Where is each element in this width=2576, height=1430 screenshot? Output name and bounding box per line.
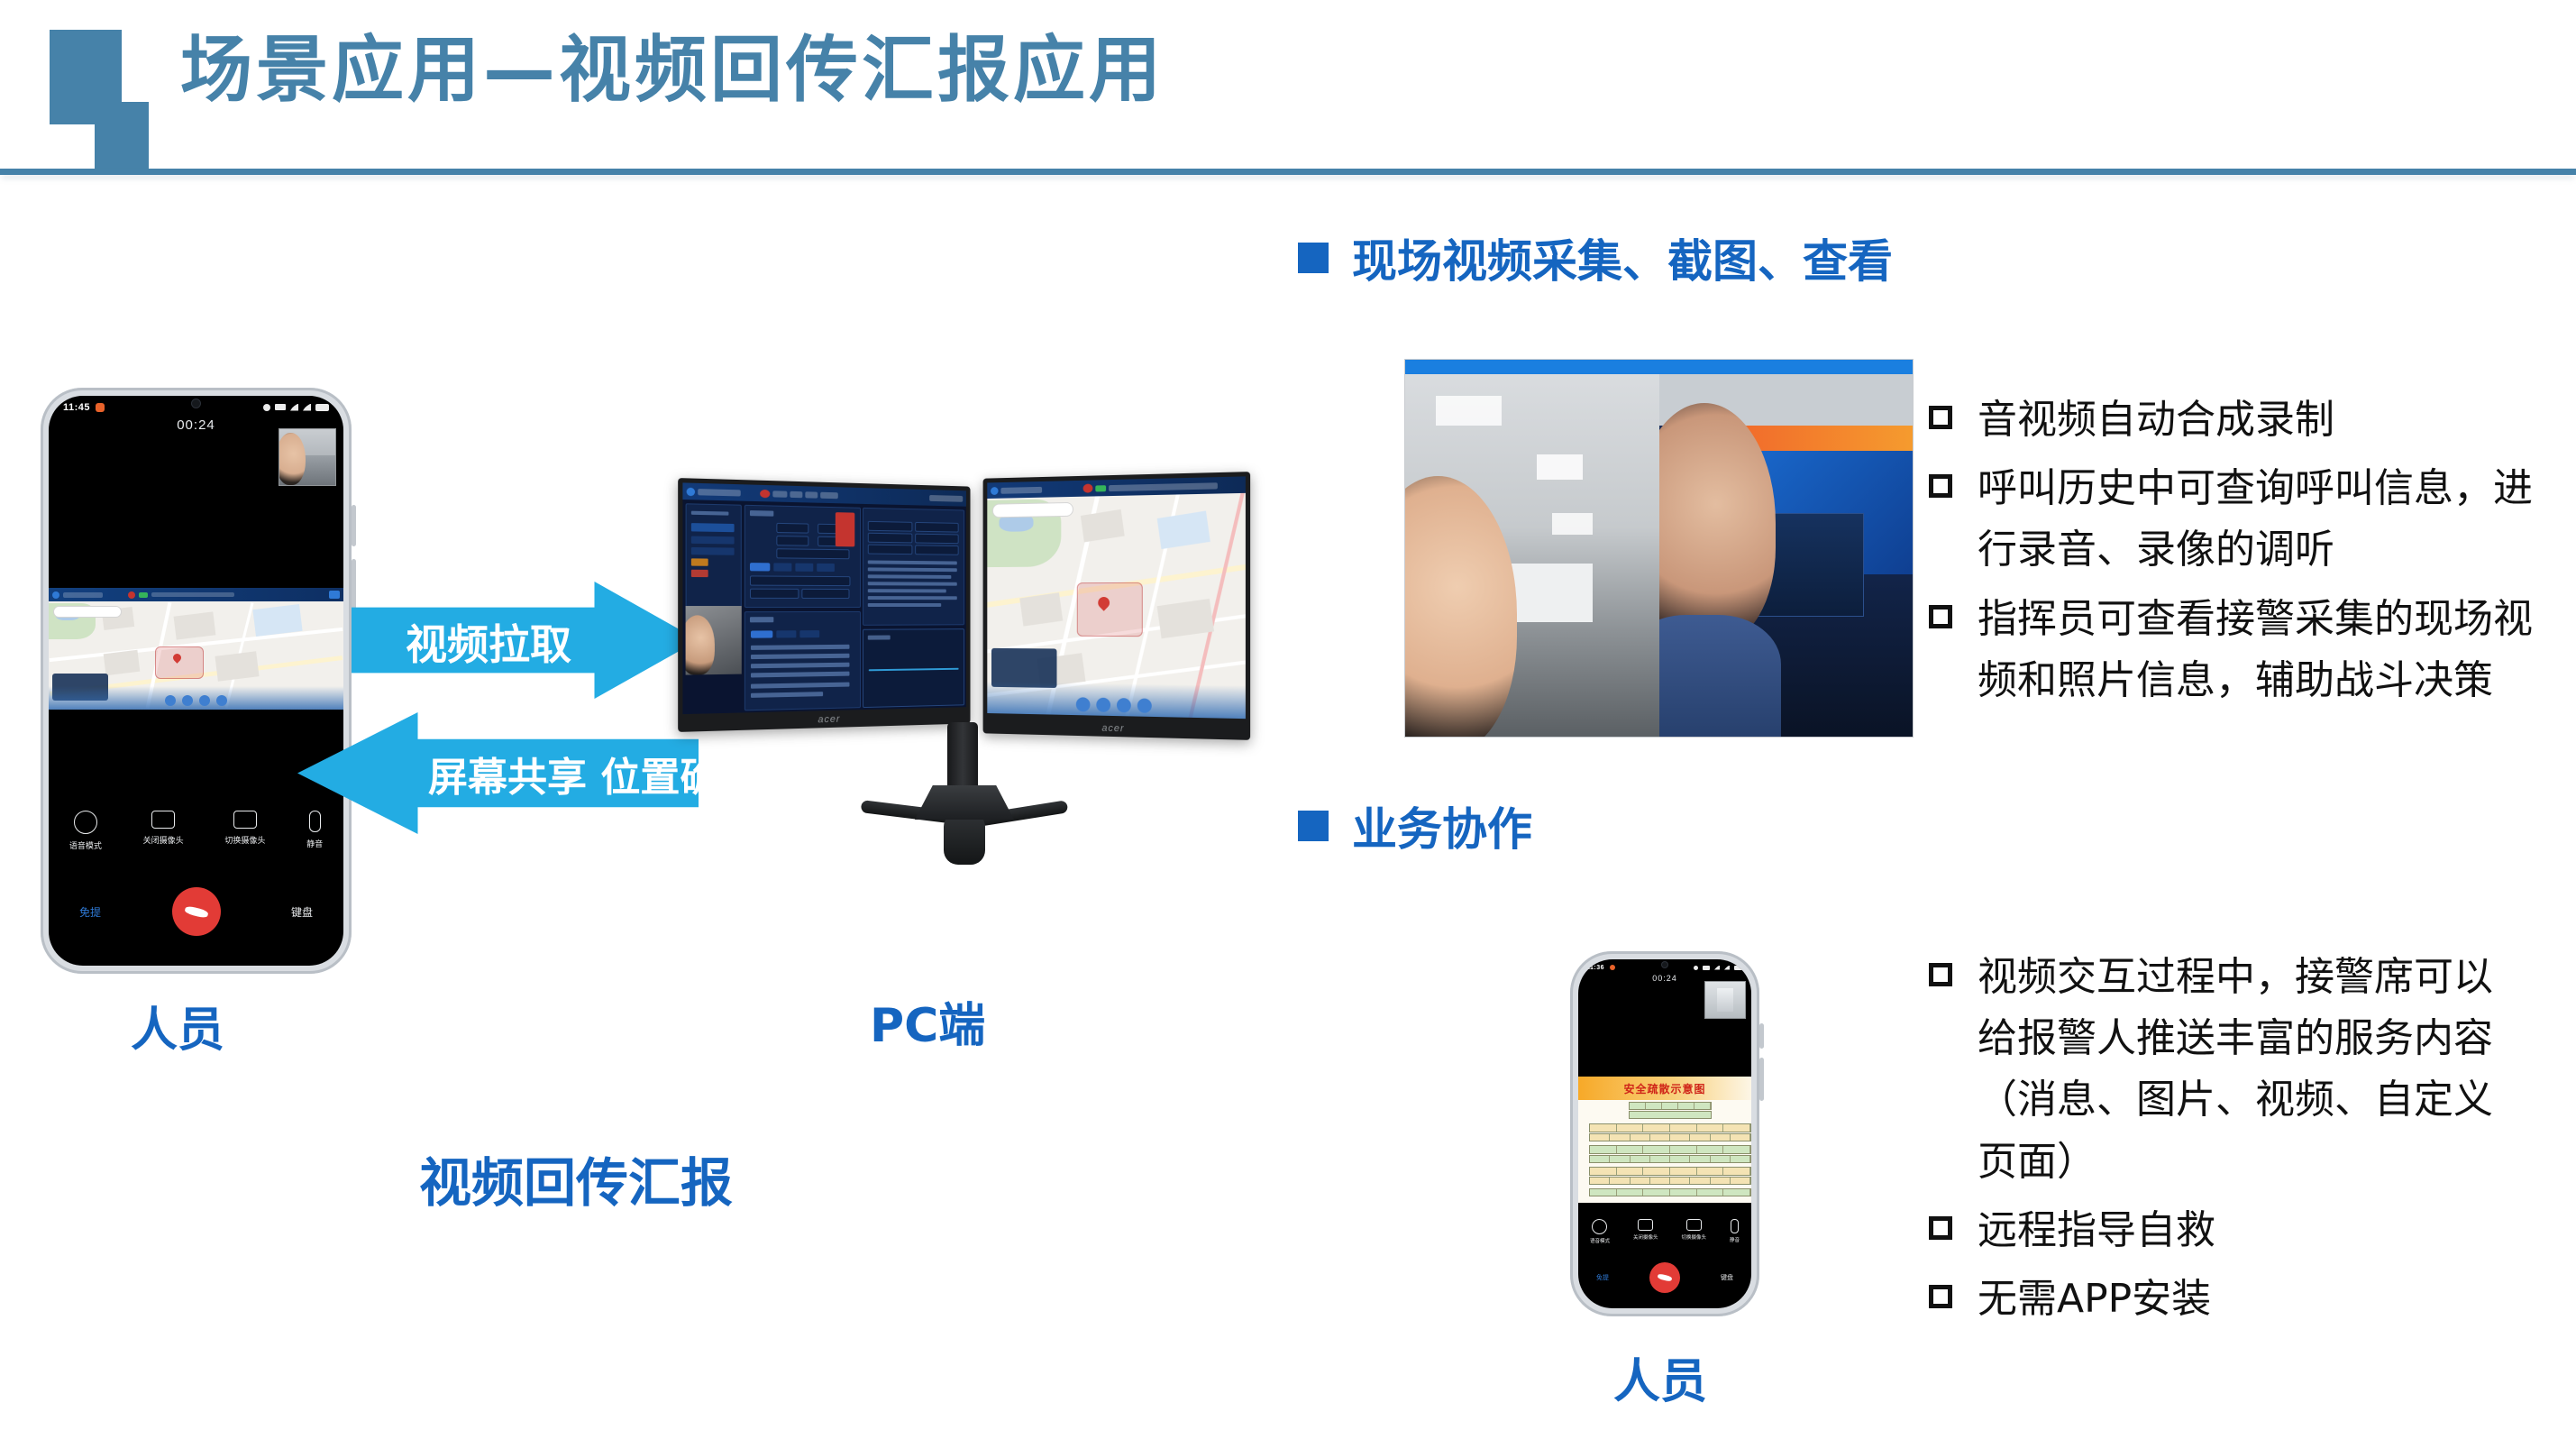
hangup-icon xyxy=(184,904,208,918)
section-header-business-collaboration: 业务协作 xyxy=(1298,793,1532,858)
sim-icon xyxy=(1703,966,1710,970)
emergency-button[interactable] xyxy=(836,512,854,546)
person-face xyxy=(1404,476,1517,738)
control-label: 关闭摄像头 xyxy=(143,834,184,846)
panel-row xyxy=(691,570,708,577)
console-waveform-panel xyxy=(863,628,964,708)
section-bullet-icon xyxy=(1298,243,1329,273)
settings-icon xyxy=(263,404,270,411)
photo-left-pane xyxy=(1405,374,1659,738)
ticker-text xyxy=(1109,482,1218,491)
list-item: 无需APP安装 xyxy=(1929,1269,2506,1330)
settings-icon xyxy=(1694,966,1698,970)
hangup-button[interactable] xyxy=(1649,1262,1680,1293)
hollow-square-bullet-icon xyxy=(1929,1285,1952,1308)
panel-row xyxy=(691,547,735,555)
floor-row-4-sub xyxy=(1589,1133,1751,1141)
control-label: 静音 xyxy=(306,838,323,849)
hangup-button[interactable] xyxy=(172,887,221,936)
monitor-stand-base xyxy=(861,785,1068,868)
sim-icon xyxy=(275,404,286,410)
form-input[interactable] xyxy=(776,523,808,534)
shared-app-title xyxy=(63,592,103,598)
front-camera-icon xyxy=(1662,962,1667,967)
bullet-list-video-capture: 音视频自动合成录制 呼叫历史中可查询呼叫信息，进行录音、录像的调听 指挥员可查看… xyxy=(1929,390,2560,719)
section-header-video-capture: 现场视频采集、截图、查看 xyxy=(1298,225,1893,290)
control-mute[interactable]: 静音 xyxy=(306,811,323,849)
toolbar-chip[interactable] xyxy=(790,490,802,497)
panel-title xyxy=(868,636,891,640)
map-incident-area xyxy=(155,646,204,679)
detail-text-line xyxy=(868,560,957,564)
section-bullet-icon xyxy=(1298,811,1329,841)
keypad-button[interactable]: 键盘 xyxy=(291,904,313,920)
status-icons xyxy=(1694,966,1743,970)
phone-mockup-right: 11:36 00:24 安全疏散示意图 xyxy=(1570,951,1759,1316)
map-action-dock[interactable] xyxy=(987,682,1246,719)
control-label: 语音模式 xyxy=(1590,1237,1610,1244)
caption-flow-title: 视频回传汇报 xyxy=(419,1141,733,1216)
control-camera-switch[interactable]: 切换摄像头 xyxy=(224,811,265,846)
video-call-photo xyxy=(1404,359,1914,738)
list-item: 视频交互过程中，接警席可以给报警人推送丰富的服务内容（消息、图片、视频、自定义页… xyxy=(1929,947,2506,1193)
list-item-text: 无需APP安装 xyxy=(1978,1269,2211,1330)
battery-icon xyxy=(1734,966,1743,970)
app-logo-icon xyxy=(52,591,59,599)
dual-monitor-mockup: acer xyxy=(681,455,1248,996)
phone-icon xyxy=(74,811,97,834)
phone-mockup-left: 11:45 00:24 xyxy=(41,388,352,974)
call-bottom-bar: 免提 键盘 xyxy=(49,887,343,936)
monitor-brand-logo: acer xyxy=(1101,723,1124,735)
page-header: 场景应用—视频回传汇报应用 xyxy=(0,0,2576,180)
shared-app-topbar xyxy=(49,588,343,601)
phone-screen: 11:45 00:24 xyxy=(49,396,343,966)
stand-plate xyxy=(915,785,1014,820)
control-camera-switch[interactable]: 切换摄像头 xyxy=(1681,1219,1706,1241)
evacuation-diagram[interactable]: 安全疏散示意图 xyxy=(1578,1077,1751,1203)
floor-row-1 xyxy=(1589,1188,1751,1196)
panel-row xyxy=(691,523,735,532)
monitor-right-screen xyxy=(987,476,1246,719)
map-action-dock[interactable] xyxy=(49,686,343,710)
console-app-title xyxy=(1000,486,1042,493)
building xyxy=(1507,564,1594,622)
form-title xyxy=(750,510,773,517)
caption-pc: PC端 xyxy=(870,987,985,1055)
mic-off-icon xyxy=(309,811,321,832)
console-checkbox-panel[interactable] xyxy=(744,611,861,710)
control-label: 切换摄像头 xyxy=(1681,1233,1706,1241)
floor-row-2-sub xyxy=(1589,1177,1751,1185)
self-view-pip[interactable] xyxy=(279,428,336,486)
checkbox-row[interactable] xyxy=(751,663,849,669)
checkbox-row[interactable] xyxy=(751,672,849,678)
map-block xyxy=(1157,599,1214,638)
map-block xyxy=(104,650,141,675)
monitor-right: acer xyxy=(983,472,1251,740)
console-form-panel[interactable] xyxy=(744,505,861,608)
list-item: 呼叫历史中可查询呼叫信息，进行录音、录像的调听 xyxy=(1929,458,2560,581)
hollow-square-bullet-icon xyxy=(1929,963,1952,986)
caption-person-right: 人员 xyxy=(1613,1343,1707,1411)
console-video-pip[interactable] xyxy=(686,606,742,675)
video-face xyxy=(686,616,716,675)
section-title: 业务协作 xyxy=(1352,793,1532,858)
signal-bars-icon xyxy=(290,404,298,411)
detail-text-line xyxy=(868,603,941,607)
control-label: 关闭摄像头 xyxy=(1633,1233,1658,1241)
checkbox-row[interactable] xyxy=(751,654,849,659)
alert-icon xyxy=(1083,484,1093,493)
panel-title xyxy=(750,617,773,622)
checkbox-row[interactable] xyxy=(751,692,823,698)
tab-button[interactable] xyxy=(817,564,835,572)
detail-field[interactable] xyxy=(915,522,958,533)
control-camera-off[interactable]: 关闭摄像头 xyxy=(1633,1219,1658,1241)
panel-row xyxy=(691,536,735,545)
filter-chip[interactable] xyxy=(751,630,772,637)
bullet-list-business-collaboration: 视频交互过程中，接警席可以给报警人推送丰富的服务内容（消息、图片、视频、自定义页… xyxy=(1929,947,2506,1337)
control-label: 语音模式 xyxy=(69,839,102,851)
logo-mark xyxy=(50,30,149,174)
map-block xyxy=(252,604,302,637)
phone-volume-button xyxy=(1759,1058,1764,1101)
map-block xyxy=(1019,592,1063,627)
arrow-screen-share: 屏幕共享 位置确认 xyxy=(297,712,699,834)
list-item: 指挥员可查看接警采集的现场视频和照片信息，辅助战斗决策 xyxy=(1929,589,2560,711)
list-item-text: 视频交互过程中，接警席可以给报警人推送丰富的服务内容（消息、图片、视频、自定义页… xyxy=(1978,947,2506,1193)
detail-field[interactable] xyxy=(868,545,913,555)
tab-button[interactable] xyxy=(795,564,813,572)
form-input[interactable] xyxy=(750,575,850,586)
waveform-line xyxy=(869,668,959,672)
map-block xyxy=(215,651,259,681)
panel-row xyxy=(691,511,729,516)
filter-chip[interactable] xyxy=(799,630,819,637)
filter-chip[interactable] xyxy=(776,630,796,637)
call-controls: 语音模式 关闭摄像头 切换摄像头 静音 xyxy=(1578,1219,1751,1244)
map-block xyxy=(1081,509,1125,543)
signal-bars-icon xyxy=(1714,966,1720,970)
map-search-input[interactable] xyxy=(992,502,1073,518)
console-detail-panel[interactable] xyxy=(863,508,964,626)
tab-button[interactable] xyxy=(750,563,770,571)
map-search-input[interactable] xyxy=(53,606,122,618)
floor-row-5-sub xyxy=(1629,1111,1712,1119)
dock-button-icon[interactable] xyxy=(1096,698,1110,712)
hollow-square-bullet-icon xyxy=(1929,406,1952,429)
floor-row-4 xyxy=(1589,1123,1751,1132)
arrow-video-pull: 视频拉取 xyxy=(352,582,699,699)
phone-screen: 11:36 00:24 安全疏散示意图 xyxy=(1578,959,1751,1308)
tab-button[interactable] xyxy=(773,563,791,571)
camera-switch-icon xyxy=(233,811,257,829)
map-block xyxy=(174,611,216,639)
front-camera-icon xyxy=(192,399,200,408)
dock-button-icon[interactable] xyxy=(199,695,210,706)
app-logo-icon xyxy=(687,487,695,496)
person-shoulder xyxy=(1659,615,1781,738)
photo-title-bar xyxy=(1405,360,1913,374)
toolbar-chip[interactable] xyxy=(805,491,818,498)
status-time: 11:36 xyxy=(1586,965,1604,971)
toolbar-chip[interactable] xyxy=(772,490,787,498)
form-input[interactable] xyxy=(776,536,808,546)
floor-row-3 xyxy=(1589,1145,1751,1154)
phone-side-button xyxy=(352,505,356,546)
detail-text-line xyxy=(868,582,957,585)
form-input[interactable] xyxy=(776,548,849,559)
logo-square-small xyxy=(95,102,149,174)
header-divider xyxy=(0,169,2576,175)
map-view[interactable] xyxy=(49,601,343,710)
detail-field[interactable] xyxy=(868,521,913,532)
console-app-title xyxy=(698,489,741,496)
hollow-square-bullet-icon xyxy=(1929,474,1952,498)
pip-face xyxy=(279,433,306,485)
photo-right-pane xyxy=(1659,374,1914,738)
map-block xyxy=(1157,511,1210,549)
app-logo-icon xyxy=(991,487,998,495)
shared-screen-pane xyxy=(49,588,343,710)
control-label: 静音 xyxy=(1730,1236,1740,1243)
floor-row-5 xyxy=(1629,1102,1712,1110)
call-controls: 语音模式 关闭摄像头 切换摄像头 静音 xyxy=(49,811,343,851)
map-incident-area xyxy=(1077,582,1143,637)
dock-button-icon[interactable] xyxy=(165,695,176,706)
speaker-button[interactable]: 免提 xyxy=(79,904,101,920)
camera-switch-icon xyxy=(1686,1219,1702,1231)
status-time: 11:45 xyxy=(63,402,90,413)
detail-text-line xyxy=(868,589,946,592)
map-view[interactable] xyxy=(987,493,1246,719)
list-item-text: 音视频自动合成录制 xyxy=(1978,390,2334,451)
list-item-text: 呼叫历史中可查询呼叫信息，进行录音、录像的调听 xyxy=(1978,458,2560,581)
list-item-text: 指挥员可查看接警采集的现场视频和照片信息，辅助战斗决策 xyxy=(1978,589,2560,711)
panel-row xyxy=(691,558,708,565)
checkbox-row[interactable] xyxy=(751,645,849,650)
caption-person-left: 人员 xyxy=(131,992,224,1059)
ceiling-light xyxy=(1537,454,1583,480)
status-chip xyxy=(139,592,148,598)
list-item: 远程指导自救 xyxy=(1929,1200,2506,1261)
dock-button-icon[interactable] xyxy=(216,695,227,706)
hangup-icon xyxy=(1658,1273,1673,1282)
monitor-left: acer xyxy=(678,478,970,732)
dock-button-icon[interactable] xyxy=(182,695,193,706)
control-mute[interactable]: 静音 xyxy=(1730,1219,1740,1243)
toolbar-datetime xyxy=(929,495,963,502)
detail-text-line xyxy=(868,596,957,600)
notification-badge-icon xyxy=(96,403,105,412)
control-camera-off[interactable]: 关闭摄像头 xyxy=(143,811,184,846)
list-item: 音视频自动合成录制 xyxy=(1929,390,2560,451)
signal-bars-icon xyxy=(1724,966,1730,970)
detail-field[interactable] xyxy=(915,534,958,545)
notification-badge-icon xyxy=(1610,965,1615,970)
status-chip xyxy=(1095,485,1106,491)
camera-off-icon xyxy=(1638,1219,1653,1231)
floor-row-2 xyxy=(1589,1167,1751,1176)
page-title: 场景应用—视频回传汇报应用 xyxy=(180,25,1165,115)
control-voice-mode[interactable]: 语音模式 xyxy=(1590,1219,1610,1244)
mic-off-icon xyxy=(1731,1219,1739,1233)
monitor-brand-logo: acer xyxy=(818,714,840,726)
toolbar-chip[interactable] xyxy=(820,491,838,499)
detail-field[interactable] xyxy=(868,533,913,544)
alert-icon xyxy=(128,591,135,599)
dock-button-icon[interactable] xyxy=(1075,697,1090,711)
checkbox-row[interactable] xyxy=(751,683,849,689)
form-input[interactable] xyxy=(801,589,849,599)
ticker-text xyxy=(151,592,234,597)
control-label: 切换摄像头 xyxy=(224,834,265,846)
hollow-square-bullet-icon xyxy=(1929,605,1952,628)
self-view-pip[interactable] xyxy=(1704,981,1746,1019)
alert-icon xyxy=(760,489,770,497)
keypad-button[interactable]: 键盘 xyxy=(1721,1273,1733,1282)
ceiling-light xyxy=(1436,396,1502,425)
phone-icon xyxy=(1592,1219,1607,1234)
section-title: 现场视频采集、截图、查看 xyxy=(1352,225,1893,290)
panel-toggle-icon[interactable] xyxy=(329,591,340,599)
list-item-text: 远程指导自救 xyxy=(1978,1200,2215,1261)
hollow-square-bullet-icon xyxy=(1929,1216,1952,1240)
detail-field[interactable] xyxy=(915,545,958,555)
arrow-label: 视频拉取 xyxy=(406,612,571,672)
detail-text-line xyxy=(868,567,957,572)
console-topbar xyxy=(682,482,965,506)
camera-off-icon xyxy=(151,811,175,829)
dock-button-icon[interactable] xyxy=(1116,698,1130,712)
pip-corridor xyxy=(1705,982,1745,1018)
form-input[interactable] xyxy=(750,589,799,599)
control-voice-mode[interactable]: 语音模式 xyxy=(69,811,102,851)
battery-icon xyxy=(315,404,329,411)
monitor-stand-neck xyxy=(947,722,978,793)
signal-bars-icon xyxy=(303,404,311,411)
monitor-left-screen xyxy=(682,482,965,714)
status-icons xyxy=(263,404,329,411)
call-bottom-bar: 免提 键盘 xyxy=(1578,1262,1751,1293)
detail-text-line xyxy=(868,574,952,579)
diagram-title: 安全疏散示意图 xyxy=(1578,1081,1751,1096)
floor-row-3-sub xyxy=(1589,1155,1751,1163)
speaker-button[interactable]: 免提 xyxy=(1596,1273,1609,1282)
phone-side-button xyxy=(1759,1023,1764,1049)
stand-leg xyxy=(944,812,985,865)
dock-button-icon[interactable] xyxy=(1137,698,1151,712)
ceiling-light xyxy=(1552,513,1593,535)
